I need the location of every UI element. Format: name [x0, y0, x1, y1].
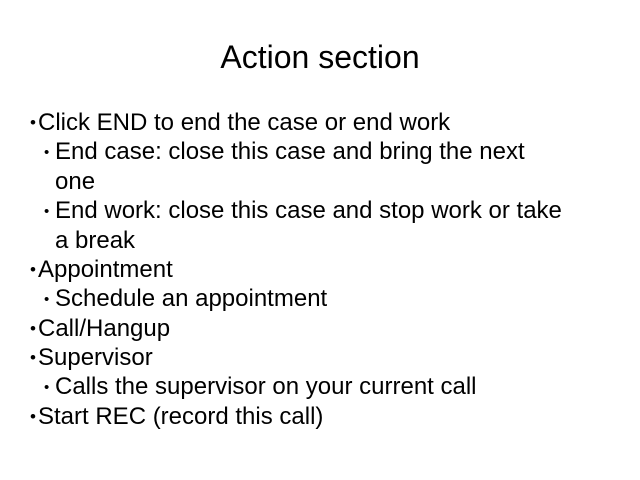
list-item-label: a break	[55, 227, 135, 254]
bullet-icon: •	[30, 314, 38, 343]
list-item: •Call/Hangup	[26, 314, 626, 343]
bullet-icon: •	[30, 343, 38, 372]
list-item: •Click END to end the case or end work	[26, 108, 626, 137]
list-item: •Supervisor	[26, 343, 626, 372]
list-item-label: Supervisor	[38, 344, 153, 371]
slide-canvas: Action section •Click END to end the cas…	[0, 0, 640, 480]
list-item-label: Appointment	[38, 256, 173, 283]
list-item-label: Calls the supervisor on your current cal…	[55, 373, 477, 400]
list-item-label: Click END to end the case or end work	[38, 109, 450, 136]
list-item: •Calls the supervisor on your current ca…	[26, 372, 626, 402]
list-item: •Start REC (record this call)	[26, 402, 626, 431]
list-item-continuation: one	[26, 167, 626, 196]
list-item-label: End work: close this case and stop work …	[55, 197, 562, 224]
list-item: •End case: close this case and bring the…	[26, 137, 626, 167]
bullet-icon: •	[44, 373, 55, 402]
list-item-label: Call/Hangup	[38, 315, 170, 342]
bullet-icon: •	[44, 138, 55, 167]
list-item-label: Schedule an appointment	[55, 285, 327, 312]
list-item-label: End case: close this case and bring the …	[55, 138, 525, 165]
list-item-continuation: a break	[26, 226, 626, 255]
list-item: •Schedule an appointment	[26, 284, 626, 314]
bullet-icon: •	[30, 255, 38, 284]
page-title: Action section	[0, 38, 640, 76]
bullet-icon: •	[30, 108, 38, 137]
list-item: •Appointment	[26, 255, 626, 284]
bullet-icon: •	[44, 197, 55, 226]
bullet-icon: •	[44, 285, 55, 314]
bullet-list: •Click END to end the case or end work•E…	[26, 108, 626, 431]
list-item-label: one	[55, 168, 95, 195]
list-item-label: Start REC (record this call)	[38, 403, 323, 430]
bullet-icon: •	[30, 402, 38, 431]
list-item: •End work: close this case and stop work…	[26, 196, 626, 226]
